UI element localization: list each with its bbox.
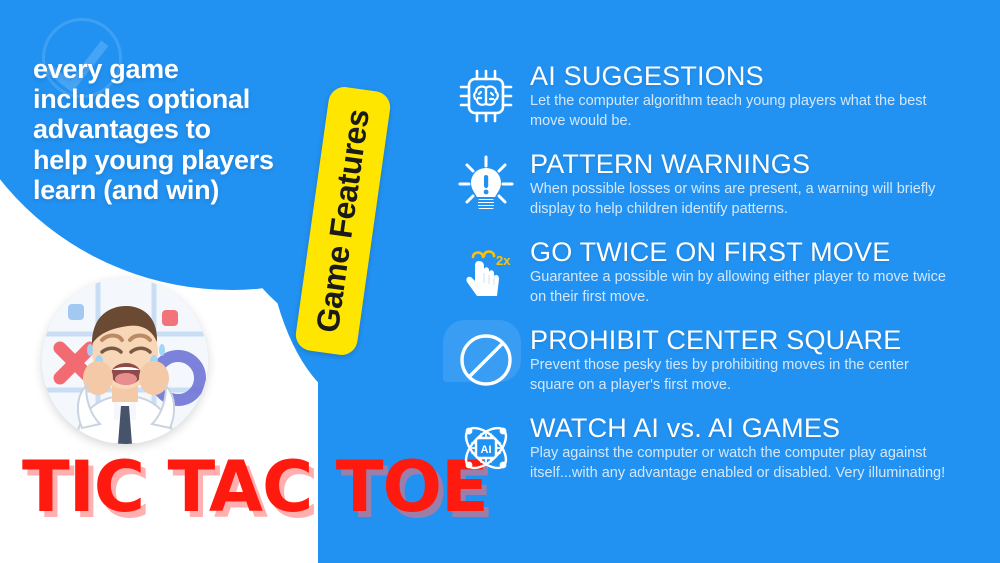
headline-line-4: help young players: [33, 145, 323, 175]
headline-line-3: advantages to: [33, 114, 323, 144]
avatar-artwork: [42, 278, 208, 444]
feature-text-block: AI SUGGESTIONS Let the computer algorith…: [522, 60, 990, 132]
ai-chip-brain-icon: [450, 60, 522, 132]
feature-title: PROHIBIT CENTER SQUARE: [530, 326, 990, 354]
feature-title: WATCH AI vs. AI GAMES: [530, 414, 990, 442]
feature-description: Guarantee a possible win by allowing eit…: [530, 268, 950, 307]
feature-description: Play against the computer or watch the c…: [530, 444, 950, 483]
headline-line-5: learn (and win): [33, 175, 323, 205]
atom-ai-chip-icon: AI: [450, 412, 522, 484]
feature-text-block: GO TWICE ON FIRST MOVE Guarantee a possi…: [522, 236, 990, 308]
feature-description: Let the computer algorithm teach young p…: [530, 92, 950, 131]
feature-title: PATTERN WARNINGS: [530, 150, 990, 178]
feature-text-block: WATCH AI vs. AI GAMES Play against the c…: [522, 412, 990, 484]
feature-title: AI SUGGESTIONS: [530, 62, 990, 90]
go-twice-badge: 2x: [496, 253, 511, 268]
page-title: TIC TAC TOE: [22, 452, 488, 522]
feature-description: Prevent those pesky ties by prohibiting …: [530, 356, 950, 395]
poster-canvas: every game includes optional advantages …: [0, 0, 1000, 563]
feature-title: GO TWICE ON FIRST MOVE: [530, 238, 990, 266]
ai-chip-label: AI: [481, 444, 492, 456]
lightbulb-warning-icon: [450, 148, 522, 220]
prohibit-no-entry-icon: [450, 324, 522, 396]
feature-text-block: PROHIBIT CENTER SQUARE Prevent those pes…: [522, 324, 990, 396]
headline-line-1: every game: [33, 54, 323, 84]
page-headline: every game includes optional advantages …: [33, 54, 323, 205]
feature-item-ai-suggestions: AI SUGGESTIONS Let the computer algorith…: [450, 60, 990, 136]
hand-tap-twice-icon: 2x: [450, 236, 522, 308]
feature-item-watch-ai-games: AI WATCH AI vs. AI GAMES Play against th…: [450, 412, 990, 488]
feature-item-go-twice: 2x GO TWICE ON FIRST MOVE Guarantee a po…: [450, 236, 990, 312]
feature-list: AI SUGGESTIONS Let the computer algorith…: [450, 60, 990, 500]
headline-line-2: includes optional: [33, 84, 323, 114]
feature-item-pattern-warnings: PATTERN WARNINGS When possible losses or…: [450, 148, 990, 224]
crying-man-avatar: [42, 278, 208, 444]
feature-text-block: PATTERN WARNINGS When possible losses or…: [522, 148, 990, 220]
feature-item-prohibit-center: PROHIBIT CENTER SQUARE Prevent those pes…: [450, 324, 990, 400]
feature-description: When possible losses or wins are present…: [530, 180, 950, 219]
